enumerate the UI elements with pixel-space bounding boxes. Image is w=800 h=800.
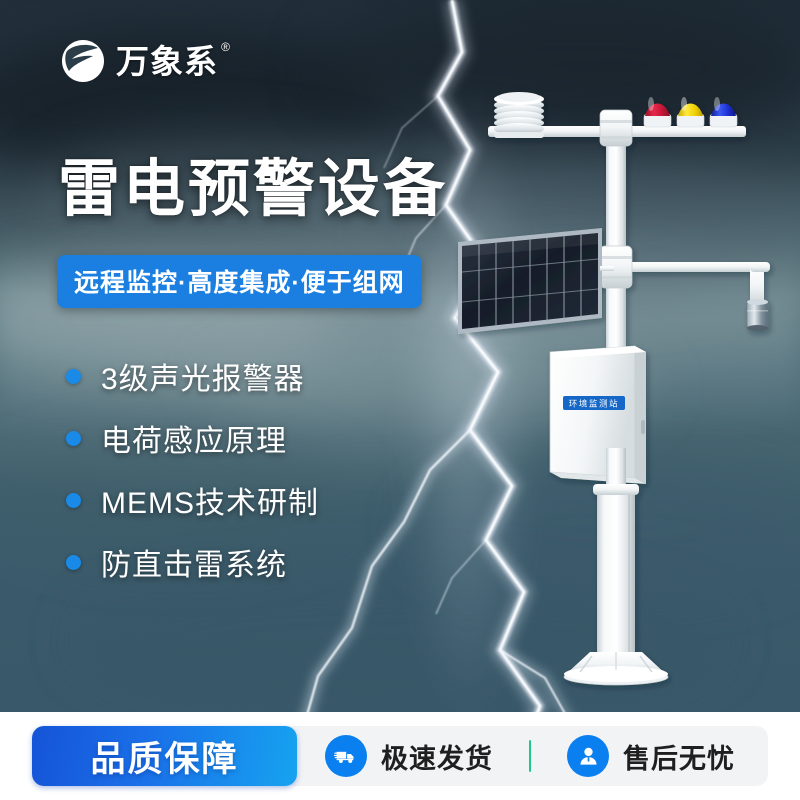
- feature-label: 3级声光报警器: [101, 354, 305, 398]
- brand-name: 万象系®: [116, 45, 218, 78]
- controller-enclosure: 环境监测站: [550, 346, 646, 484]
- page-title: 雷电预警设备: [58, 157, 448, 222]
- trust-divider: [529, 740, 531, 772]
- feature-label: MEMS技术研制: [101, 478, 319, 522]
- bullet-dot-icon: [66, 493, 81, 508]
- list-item: MEMS技术研制: [66, 469, 319, 531]
- list-item: 3级声光报警器: [66, 345, 319, 407]
- trust-item-label: 售后无忧: [623, 737, 735, 776]
- bullet-dot-icon: [66, 369, 81, 384]
- trust-item-after-sales[interactable]: 售后无忧: [567, 735, 735, 777]
- list-item: 防直击雷系统: [66, 531, 319, 593]
- blue-alarm-beacon: [710, 97, 737, 127]
- delivery-truck-icon: [325, 735, 367, 777]
- feature-list: 3级声光报警器 电荷感应原理 MEMS技术研制 防直击雷系统: [66, 345, 319, 593]
- alarm-beacon-group: [644, 97, 737, 127]
- radiation-shield-sensor: [494, 92, 544, 138]
- trust-bar: 极速发货 售后无忧 品质保障: [0, 712, 800, 800]
- bullet-dot-icon: [66, 431, 81, 446]
- swirl-sphere-logo-icon: [60, 38, 106, 84]
- hero-subtitle-banner: 远程监控·高度集成·便于组网: [57, 255, 422, 308]
- product-promo-poster: 环境监测站: [0, 0, 800, 800]
- weather-station-graphic: 环境监测站: [440, 80, 800, 700]
- trust-item-fast-shipping[interactable]: 极速发货: [325, 735, 493, 777]
- feature-label: 防直击雷系统: [101, 540, 287, 584]
- feature-label: 电荷感应原理: [101, 416, 287, 460]
- bullet-dot-icon: [66, 555, 81, 570]
- product-illustration: 环境监测站: [440, 80, 800, 700]
- base-plate: [564, 652, 668, 685]
- solar-panel: [458, 228, 614, 334]
- list-item: 电荷感应原理: [66, 407, 319, 469]
- trust-items-panel: 极速发货 售后无忧: [283, 726, 768, 786]
- enclosure-label-text: 环境监测站: [569, 399, 620, 409]
- red-alarm-beacon: [644, 97, 671, 127]
- brand-logo: 万象系®: [60, 38, 218, 84]
- trademark-symbol: ®: [221, 41, 231, 53]
- quality-guarantee-badge[interactable]: 品质保障: [32, 726, 297, 786]
- lightning-field-mill-sensor: [747, 262, 770, 331]
- support-agent-icon: [567, 735, 609, 777]
- quality-guarantee-label: 品质保障: [90, 731, 238, 782]
- yellow-alarm-beacon: [677, 97, 704, 127]
- trust-item-label: 极速发货: [381, 737, 493, 776]
